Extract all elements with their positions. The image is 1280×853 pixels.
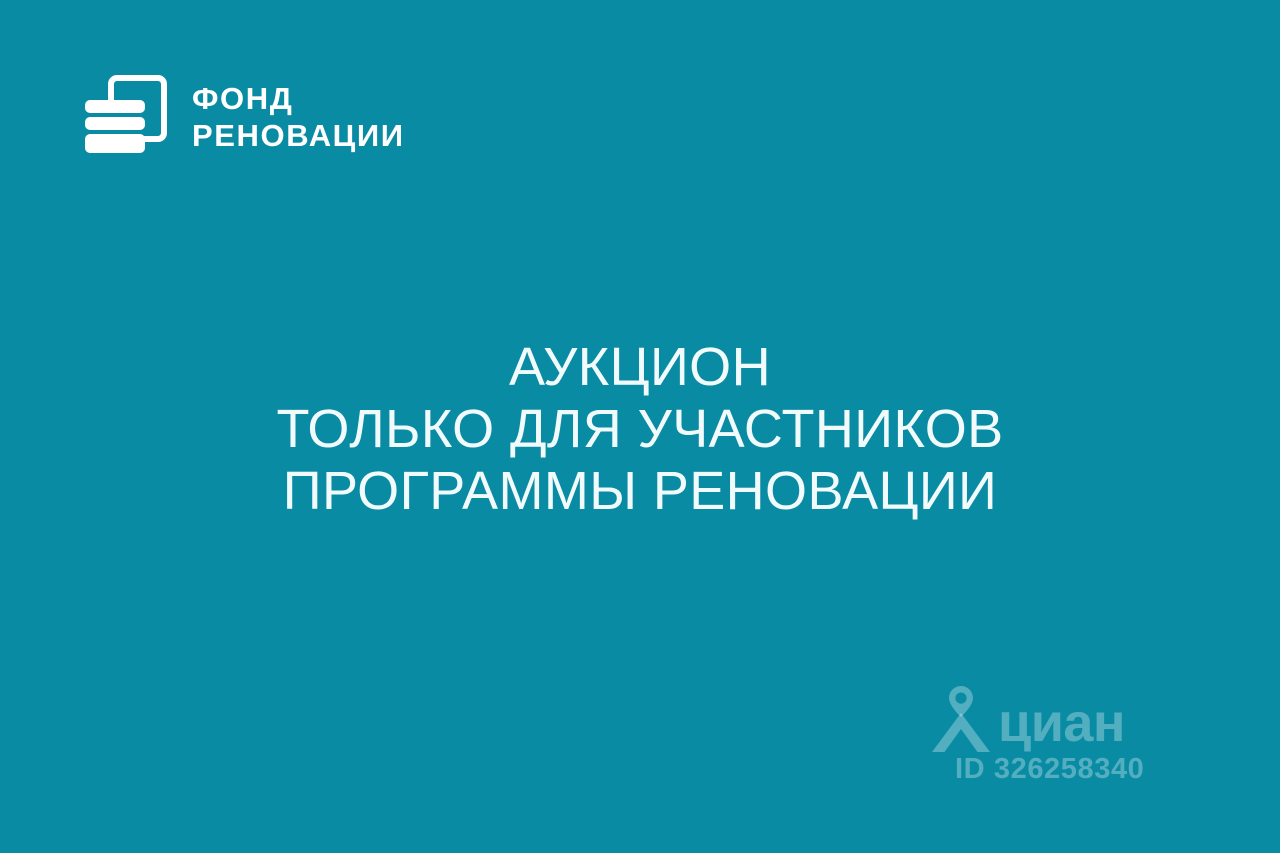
headline-line-2: ТОЛЬКО ДЛЯ УЧАСТНИКОВ [40,398,1240,460]
brand-wordmark-line-2: РЕНОВАЦИИ [192,120,405,152]
brand-wordmark-line-1: ФОНД [192,83,405,115]
cian-wordmark: циан [998,698,1125,752]
headline-line-3: ПРОГРАММЫ РЕНОВАЦИИ [40,460,1240,522]
cian-logo-row: циан [930,686,1125,752]
cian-pin-chevron-icon [930,686,992,752]
cian-listing-id: ID 326258340 [955,754,1144,784]
stacked-documents-icon [84,72,170,160]
headline-line-1: АУКЦИОН [40,336,1240,398]
promo-banner: ФОНД РЕНОВАЦИИ АУКЦИОН ТОЛЬКО ДЛЯ УЧАСТН… [0,0,1280,853]
brand-lockup: ФОНД РЕНОВАЦИИ [84,72,405,160]
headline-block: АУКЦИОН ТОЛЬКО ДЛЯ УЧАСТНИКОВ ПРОГРАММЫ … [0,336,1280,522]
brand-wordmark: ФОНД РЕНОВАЦИИ [192,81,405,151]
cian-watermark: циан ID 326258340 [930,686,1170,786]
